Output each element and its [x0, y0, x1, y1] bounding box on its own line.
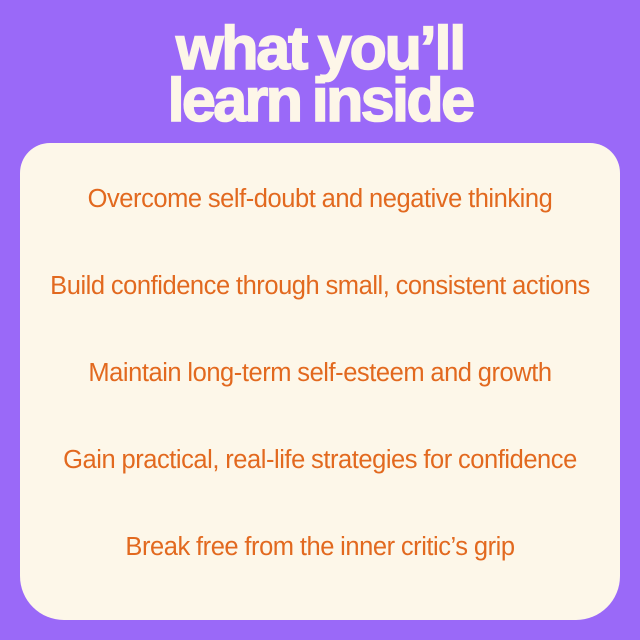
list-item: Build confidence through small, consiste… — [20, 272, 620, 359]
list-item: Overcome self-doubt and negative thinkin… — [20, 185, 620, 272]
benefits-card: Overcome self-doubt and negative thinkin… — [20, 143, 620, 620]
page-title: what you’ll learn inside — [0, 22, 640, 126]
list-item: Maintain long-term self-esteem and growt… — [20, 359, 620, 446]
list-item: Gain practical, real-life strategies for… — [20, 446, 620, 533]
benefits-list: Overcome self-doubt and negative thinkin… — [20, 143, 620, 620]
poster-canvas: what you’ll learn inside Overcome self-d… — [0, 0, 640, 640]
list-item: Break free from the inner critic’s grip — [20, 533, 620, 620]
page-title-line-2: learn inside — [0, 74, 640, 126]
